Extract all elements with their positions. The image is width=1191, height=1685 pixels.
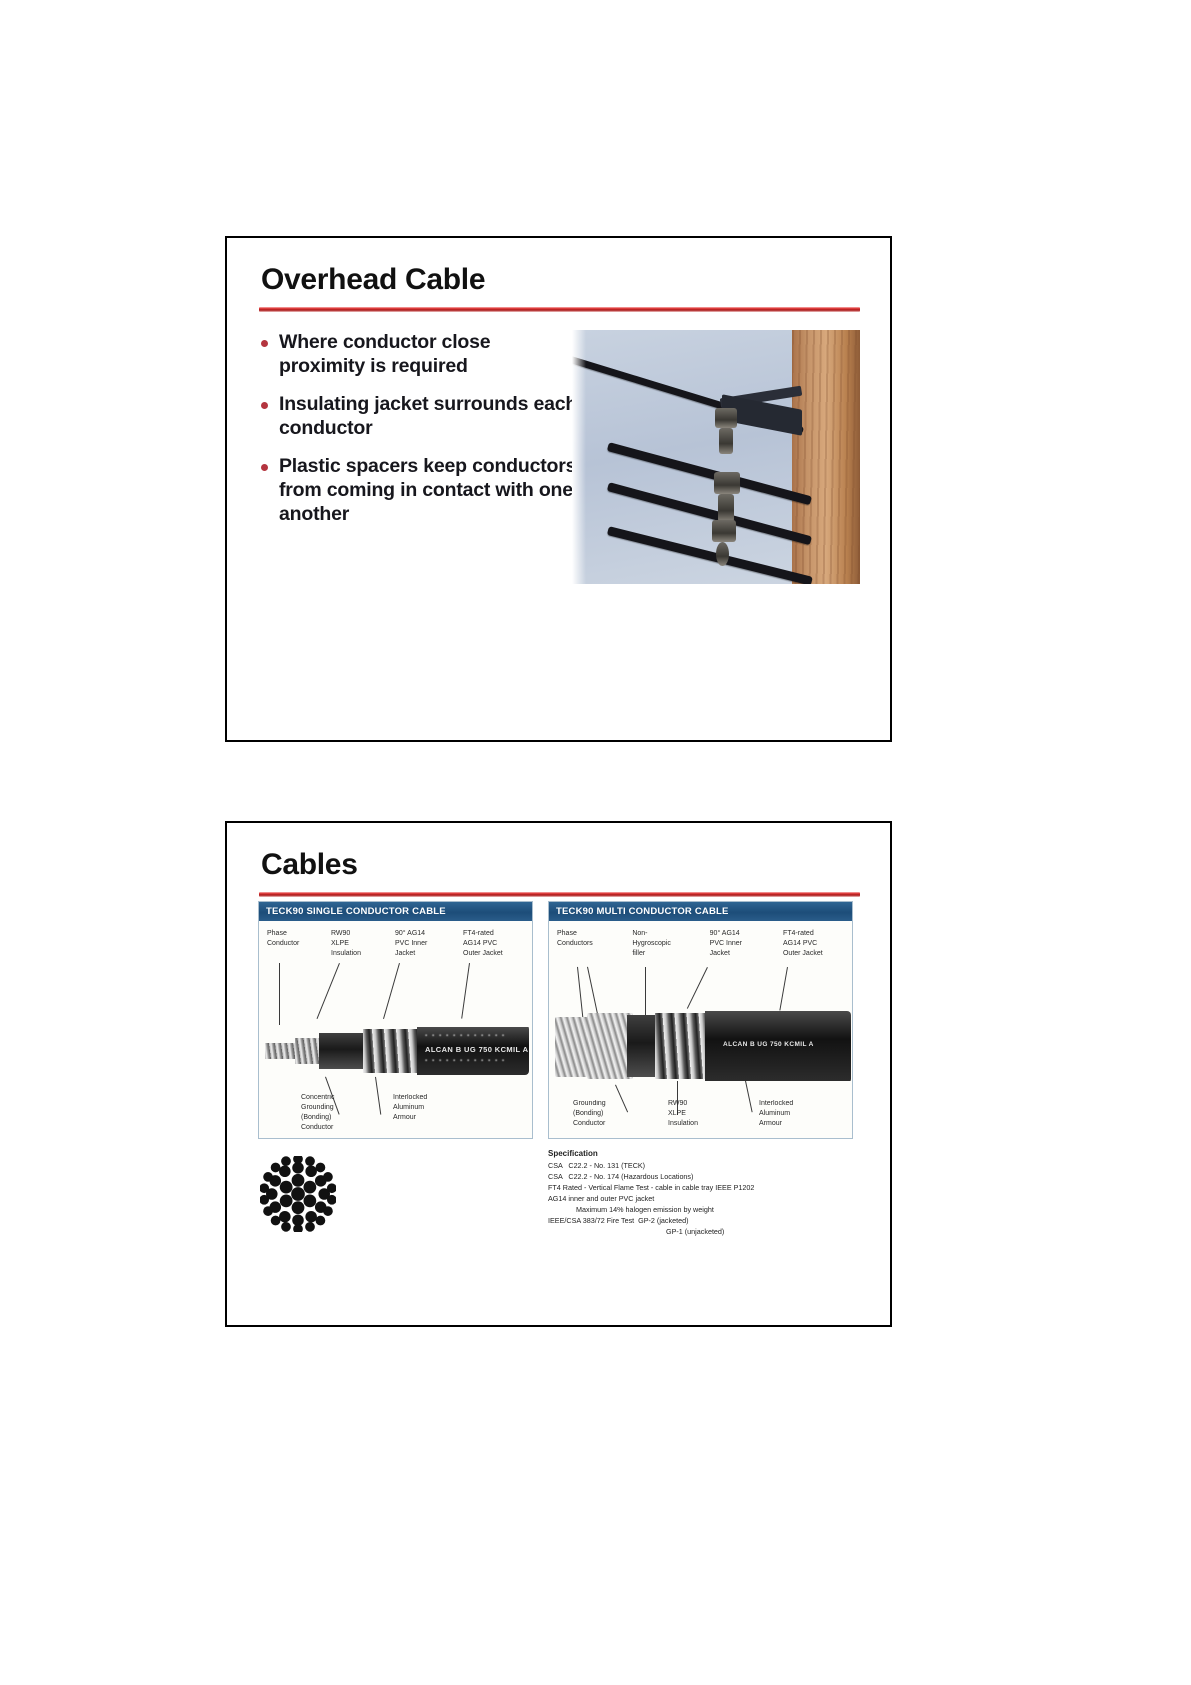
stranded-conductor-cross-section-icon xyxy=(260,1156,336,1232)
panel-teck90-single-conductor: TECK90 SINGLE CONDUCTOR CABLE Phase Cond… xyxy=(258,901,533,1139)
bullet-dot-icon xyxy=(261,340,268,347)
plastic-spacer xyxy=(712,520,736,542)
bullet-dot-icon xyxy=(261,464,268,471)
jacket-print-text: ALCAN B UG 750 KCMIL A xyxy=(425,1045,528,1054)
slide-overhead-cable: Overhead Cable Where conductor close pro… xyxy=(225,236,892,742)
overhead-cable-photo xyxy=(572,330,860,584)
cable-core-segment xyxy=(265,1043,299,1059)
plastic-spacer xyxy=(714,472,740,494)
single-conductor-cable-illustration: ▪ ▪ ▪ ▪ ▪ ▪ ▪ ▪ ▪ ▪ ▪ ▪ ALCAN B UG 750 K… xyxy=(265,1025,529,1075)
list-item: Where conductor close proximity is requi… xyxy=(261,331,581,378)
jacket-texture: ▪ ▪ ▪ ▪ ▪ ▪ ▪ ▪ ▪ ▪ ▪ ▪ xyxy=(425,1058,506,1064)
callout-label: FT4-rated AG14 PVC Outer Jacket xyxy=(463,929,525,959)
callout-label: Interlocked Aluminum Armour xyxy=(393,1093,451,1134)
callout-label: FT4-rated AG14 PVC Outer Jacket xyxy=(783,929,845,959)
callout-label: Interlocked Aluminum Armour xyxy=(759,1099,817,1129)
photo-edge-fade xyxy=(572,330,586,584)
specification-line: Maximum 14% halogen emission by weight xyxy=(548,1205,868,1216)
leader-line xyxy=(383,963,400,1019)
leader-line xyxy=(779,967,788,1011)
callout-label: Phase Conductor xyxy=(267,929,319,959)
bullet-dot-icon xyxy=(261,402,268,409)
bullet-text: Where conductor close proximity is requi… xyxy=(279,331,581,378)
callout-label: Phase Conductors xyxy=(557,929,615,959)
page-title: Overhead Cable xyxy=(259,264,860,296)
panel-teck90-multi-conductor: TECK90 MULTI CONDUCTOR CABLE Phase Condu… xyxy=(548,901,853,1139)
callout-label-row-top: Phase Conductor RW90 XLPE Insulation 90°… xyxy=(267,929,525,959)
specification-line: CSA C22.2 - No. 174 (Hazardous Locations… xyxy=(548,1172,868,1183)
callout-label-row-bottom: Grounding (Bonding) Conductor RW90 XLPE … xyxy=(573,1099,817,1129)
panel-body: Phase Conductors Non- Hygroscopic filler… xyxy=(549,921,852,1138)
leader-line xyxy=(461,963,470,1019)
panel-header-label: TECK90 MULTI CONDUCTOR CABLE xyxy=(549,902,852,921)
title-underline-rule xyxy=(259,892,860,897)
specification-title: Specification xyxy=(548,1148,868,1160)
title-underline-rule xyxy=(259,307,860,312)
bullet-list: Where conductor close proximity is requi… xyxy=(261,331,581,541)
cable-armour-segment xyxy=(363,1029,423,1073)
leader-line xyxy=(687,967,708,1009)
leader-line xyxy=(279,963,280,1025)
page-title: Cables xyxy=(259,849,860,881)
slide-overhead-cable-content: Overhead Cable Where conductor close pro… xyxy=(227,238,890,740)
specification-block: Specification CSA C22.2 - No. 131 (TECK)… xyxy=(548,1148,868,1238)
list-item: Insulating jacket surrounds each conduct… xyxy=(261,393,581,440)
plastic-spacer xyxy=(718,494,734,522)
specification-line: CSA C22.2 - No. 131 (TECK) xyxy=(548,1161,868,1172)
plastic-spacer xyxy=(715,408,737,428)
bullet-text: Plastic spacers keep conductors from com… xyxy=(279,455,581,526)
slide-cables-content: Cables TECK90 SINGLE CONDUCTOR CABLE Pha… xyxy=(227,823,890,1325)
bullet-text: Insulating jacket surrounds each conduct… xyxy=(279,393,581,440)
callout-label: Concentric Grounding (Bonding) Conductor xyxy=(301,1093,359,1134)
callout-label-row-bottom: Concentric Grounding (Bonding) Conductor… xyxy=(301,1093,451,1134)
callout-label: Non- Hygroscopic filler xyxy=(632,929,692,959)
specification-line: GP-1 (unjacketed) xyxy=(548,1227,868,1238)
panel-body: Phase Conductor RW90 XLPE Insulation 90°… xyxy=(259,921,532,1138)
jacket-texture: ▪ ▪ ▪ ▪ ▪ ▪ ▪ ▪ ▪ ▪ ▪ ▪ xyxy=(425,1033,506,1039)
callout-label-row-top: Phase Conductors Non- Hygroscopic filler… xyxy=(557,929,845,959)
specification-line: FT4 Rated - Vertical Flame Test - cable … xyxy=(548,1183,868,1194)
utility-pole xyxy=(792,330,860,584)
specification-line: AG14 inner and outer PVC jacket xyxy=(548,1194,868,1205)
leader-line xyxy=(317,963,340,1019)
callout-label: Grounding (Bonding) Conductor xyxy=(573,1099,629,1129)
panel-header-label: TECK90 SINGLE CONDUCTOR CABLE xyxy=(259,902,532,921)
callout-label: 90° AG14 PVC Inner Jacket xyxy=(395,929,451,959)
callout-label: RW90 XLPE Insulation xyxy=(331,929,383,959)
callout-label: RW90 XLPE Insulation xyxy=(668,1099,720,1129)
plastic-spacer xyxy=(716,542,729,566)
cable-insulation-segment xyxy=(319,1033,367,1069)
callout-label: 90° AG14 PVC Inner Jacket xyxy=(710,929,766,959)
plastic-spacer xyxy=(719,428,733,454)
jacket-print-text: ALCAN B UG 750 KCMIL A xyxy=(723,1041,814,1048)
list-item: Plastic spacers keep conductors from com… xyxy=(261,455,581,526)
slide-cables: Cables TECK90 SINGLE CONDUCTOR CABLE Pha… xyxy=(225,821,892,1327)
specification-line: IEEE/CSA 383/72 Fire Test GP-2 (jacketed… xyxy=(548,1216,868,1227)
multi-conductor-cable-illustration: ALCAN B UG 750 KCMIL A xyxy=(553,1011,851,1083)
